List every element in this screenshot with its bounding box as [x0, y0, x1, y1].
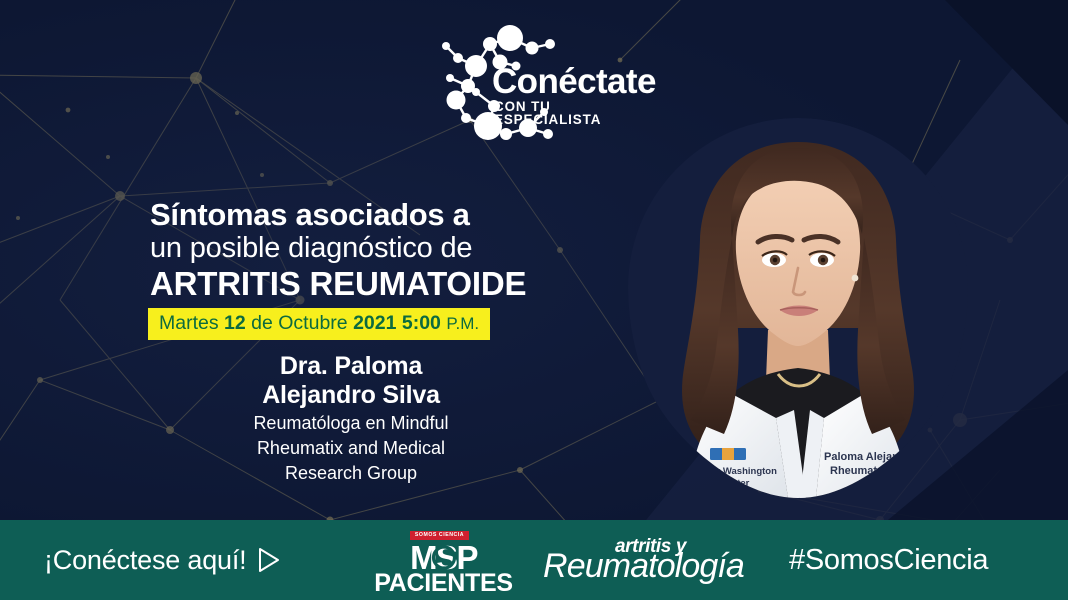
speaker-role-line-2: Rheumatix and Medical: [150, 438, 552, 459]
msp-pacientes-logo[interactable]: SOMOS CIENCIA MSP PACIENTES: [371, 524, 516, 596]
headline-line-1: Síntomas asociados a: [150, 198, 550, 231]
date-day: 12: [224, 312, 246, 334]
msp-circle-icon: [431, 544, 457, 570]
headline-line-3: ARTRITIS REUMATOIDE: [150, 267, 550, 302]
speaker-name-line-1: Dra. Paloma: [150, 352, 552, 381]
headline-line-2: un posible diagnóstico de: [150, 232, 550, 264]
date-month: de Octubre: [251, 312, 347, 334]
event-date-bar: Martes 12 de Octubre 2021 5:00 P.M.: [148, 308, 490, 340]
date-year: 2021: [353, 312, 396, 334]
play-triangle-icon[interactable]: [253, 545, 283, 575]
program-logo: Conéctate CON TU ESPECIALISTA: [432, 22, 662, 144]
artritis-y-text: artritis y: [550, 537, 751, 556]
speaker-name-line-2: Alejandro Silva: [150, 381, 552, 410]
connect-here-cta[interactable]: ¡Conéctese aquí!: [44, 545, 283, 576]
date-weekday: Martes: [159, 312, 219, 334]
speaker-block: Dra. Paloma Alejandro Silva Reumatóloga …: [150, 352, 552, 485]
connect-here-label: ¡Conéctese aquí!: [44, 545, 246, 576]
event-promo-poster: Conéctate CON TU ESPECIALISTA Síntomas a…: [0, 0, 1068, 600]
date-meridiem: P.M.: [446, 314, 479, 333]
headline-block: Síntomas asociados a un posible diagnóst…: [150, 198, 550, 302]
logo-wordmark: Conéctate: [492, 64, 656, 99]
msp-mark: MSP: [371, 541, 516, 572]
artritis-reumatologia-logo[interactable]: artritis y Reumatología: [536, 537, 751, 583]
speaker-role-line-3: Research Group: [150, 463, 552, 484]
speaker-role-line-1: Reumatóloga en Mindful: [150, 413, 552, 434]
footer-bar: ¡Conéctese aquí! SOMOS CIENCIA MSP PACIE…: [0, 520, 1068, 600]
logo-subtitle: CON TU ESPECIALISTA: [494, 100, 662, 127]
date-time: 5:00: [402, 312, 441, 334]
somos-ciencia-hashtag: #SomosCiencia: [789, 544, 988, 577]
